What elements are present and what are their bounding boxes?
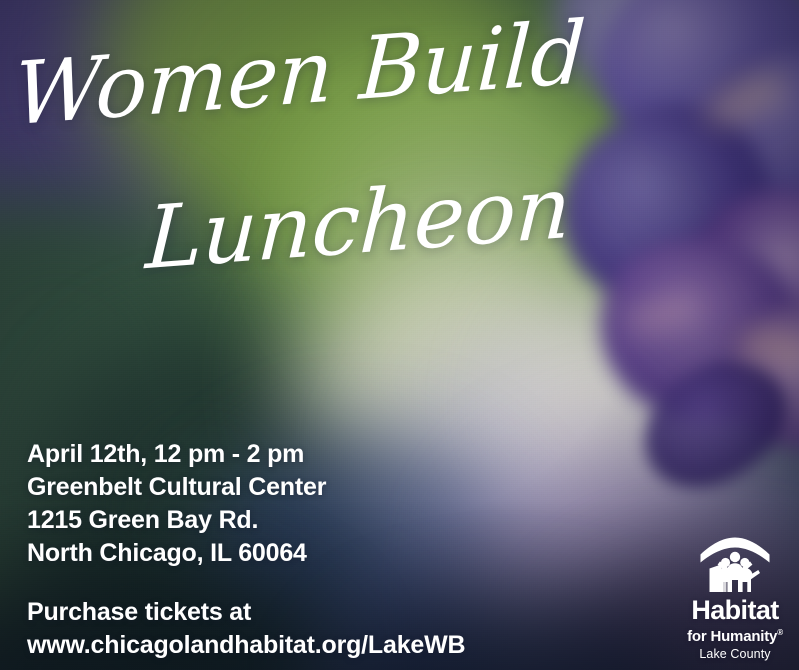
- logo-wordmark-habitat: Habitat: [683, 597, 787, 624]
- habitat-for-humanity-logo: Habitat for Humanity® Lake County: [683, 536, 787, 661]
- habitat-roof-people-icon: [697, 536, 773, 594]
- registered-trademark-icon: ®: [777, 628, 783, 637]
- logo-wordmark-for-humanity: for Humanity®: [683, 625, 787, 645]
- event-details-block: April 12th, 12 pm - 2 pm Greenbelt Cultu…: [27, 438, 326, 570]
- event-date-time: April 12th, 12 pm - 2 pm: [27, 438, 326, 471]
- headline-line-2-text: Luncheon: [144, 165, 573, 283]
- event-venue: Greenbelt Cultural Center: [27, 471, 326, 504]
- logo-affiliate-name: Lake County: [683, 647, 787, 661]
- event-street-address: 1215 Green Bay Rd.: [27, 504, 326, 537]
- event-city-state-zip: North Chicago, IL 60064: [27, 537, 326, 570]
- event-flyer: Women Build Luncheon April 12th, 12 pm -…: [0, 0, 799, 670]
- headline-line-1: Women Build: [11, 10, 588, 138]
- ticket-url-link[interactable]: www.chicagolandhabitat.org/LakeWB: [27, 629, 465, 662]
- ticket-cta-block: Purchase tickets at www.chicagolandhabit…: [27, 596, 465, 662]
- headline-line-1-text: Women Build: [12, 10, 587, 138]
- ticket-prompt: Purchase tickets at: [27, 596, 465, 629]
- logo-sub-text: for Humanity: [687, 628, 777, 645]
- headline-line-2: Luncheon: [143, 165, 574, 282]
